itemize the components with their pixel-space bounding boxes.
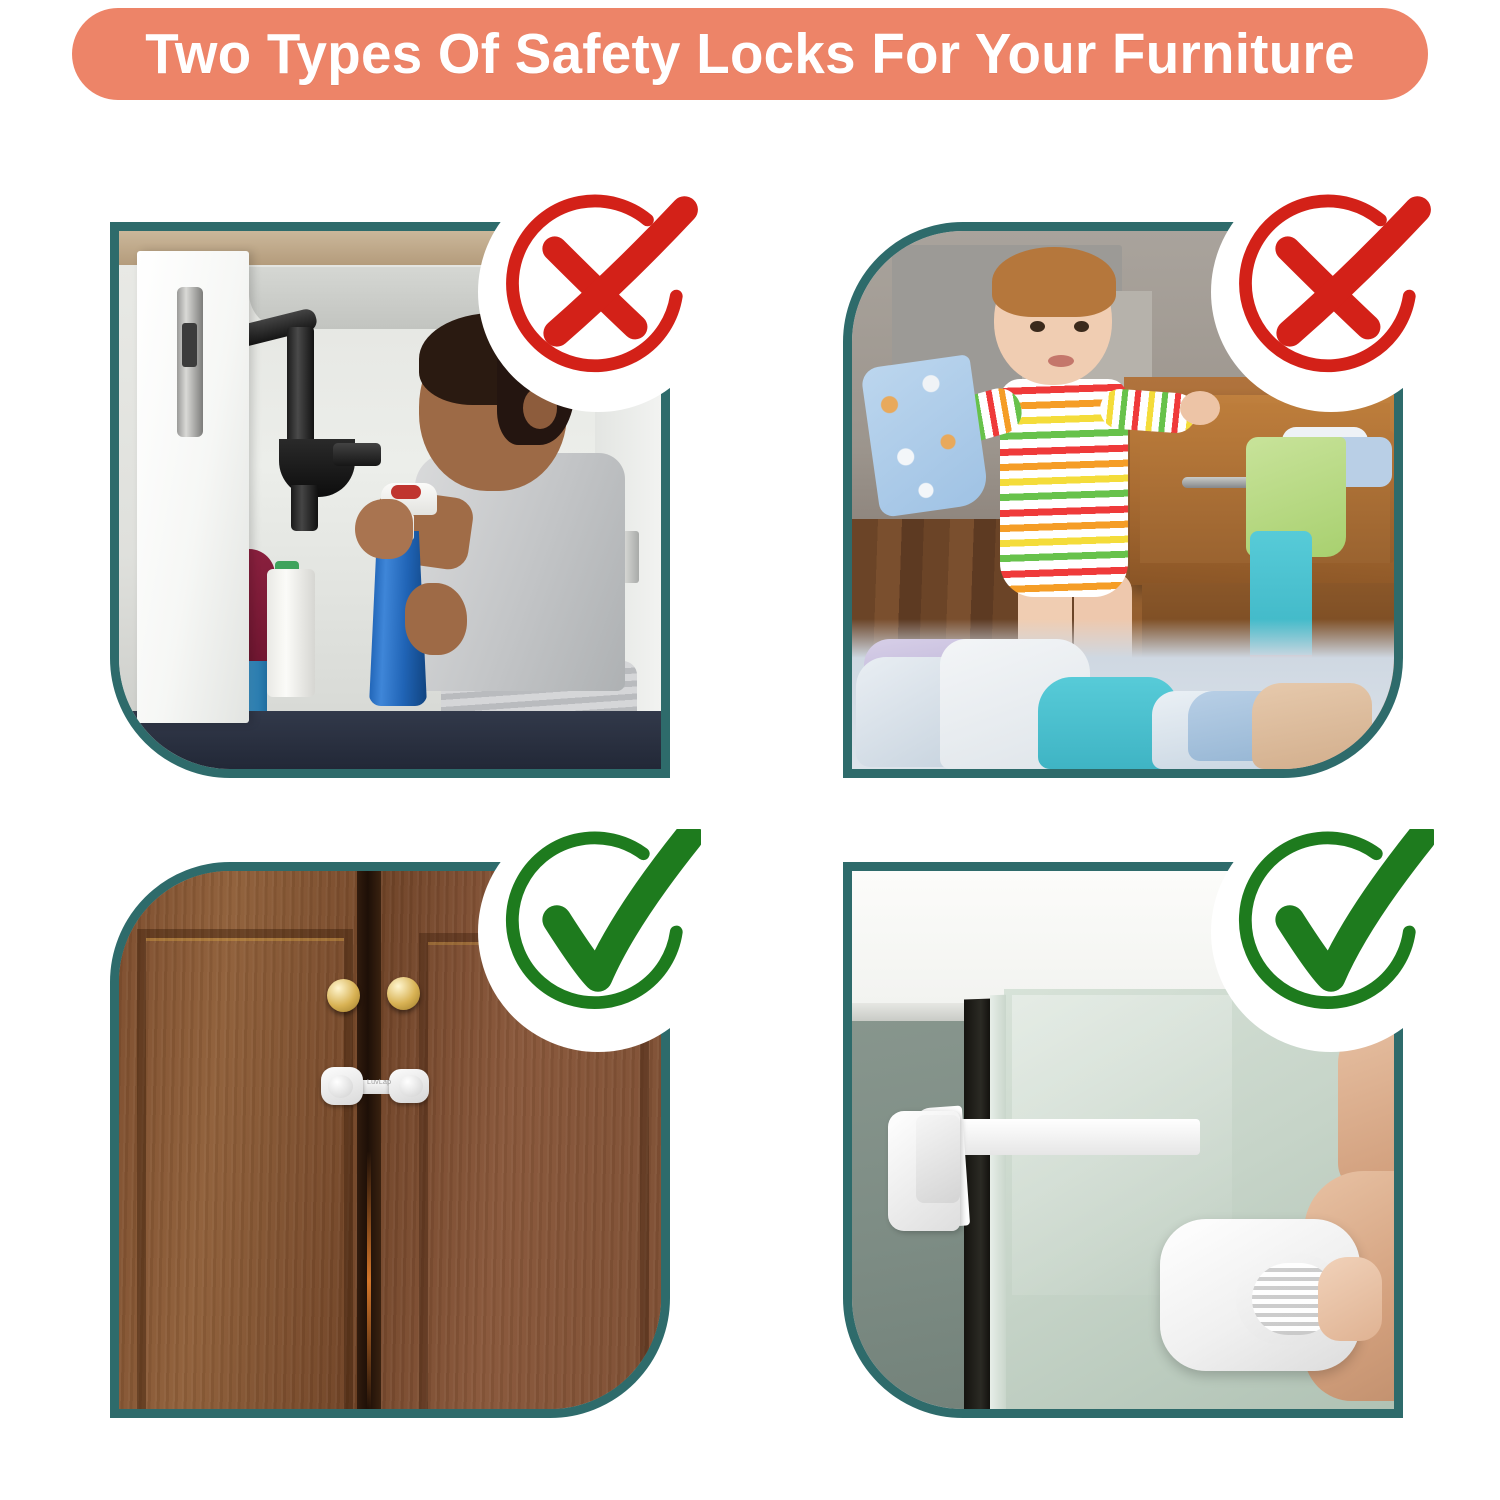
thumb-nail [1318,1257,1382,1341]
child-hand-lower [405,583,467,655]
p-trap-outlet [333,443,381,466]
baby-mouth [1048,355,1074,367]
check-circle-icon [495,829,701,1035]
door-gap-light-leak [367,1151,371,1409]
child-shirt [415,453,625,691]
badge-check-panel-4 [1211,812,1451,1052]
spray-bottle-red-accent [391,485,421,499]
baby-eye-left [1030,321,1045,332]
baby-hand-right [1180,391,1220,425]
badge-cross-panel-1 [478,172,718,412]
clothes-pile-item-e [1252,683,1372,769]
baby-hair [992,247,1116,317]
check-circle-icon [1228,829,1434,1035]
glass-edge-highlight [990,995,1006,1409]
brass-knob-left [327,979,360,1012]
cabinet-hinge-pin [182,323,197,367]
lock-strap [930,1119,1200,1155]
panel-grid: LuvLap [0,0,1500,1500]
safety-strap-lock: LuvLap [321,1067,429,1105]
badge-check-panel-3 [478,812,718,1052]
drain-pipe-vertical [287,327,314,451]
child-hand-upper [355,499,413,559]
brass-knob-right [387,977,420,1010]
door-molding-left [137,929,353,1409]
lock-mount-tab [916,1115,960,1203]
lock-button-left [328,1075,353,1098]
cross-circle-icon [495,189,701,395]
held-blanket-pattern [860,354,990,518]
detergent-bottle [267,569,315,697]
lock-brand-label: LuvLap [367,1079,407,1086]
cross-circle-icon [1228,189,1434,395]
baby-eye-right [1074,321,1089,332]
p-trap-tailpiece [291,485,318,531]
badge-cross-panel-2 [1211,172,1451,412]
